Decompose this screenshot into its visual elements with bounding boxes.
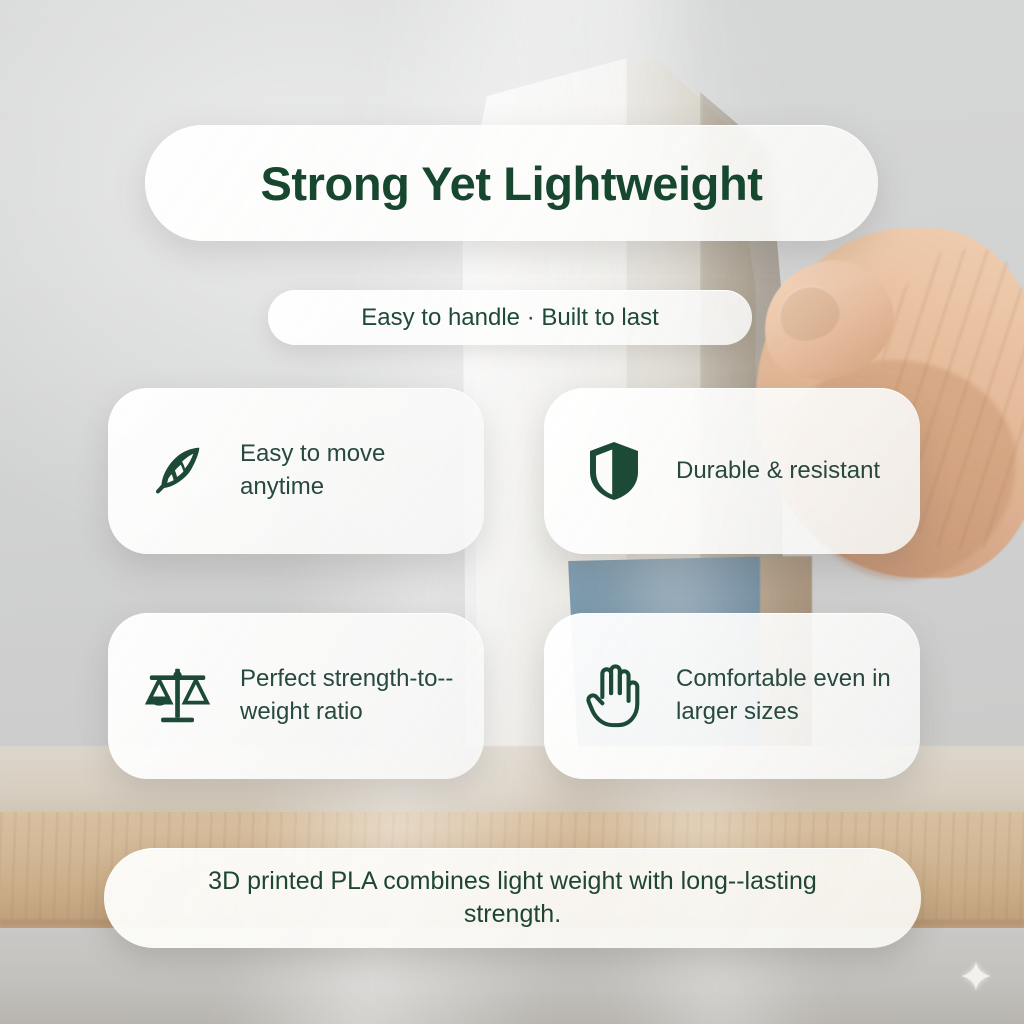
subtitle-pill: Easy to handle · Built to last	[268, 290, 752, 345]
sparkle-icon	[961, 961, 991, 991]
title-pill: Strong Yet Lightweight	[145, 125, 878, 241]
feature-label: Comfortable even in larger sizes	[676, 663, 896, 728]
feature-card-durable[interactable]: Durable & resistant	[544, 388, 920, 554]
feature-label: Easy to move anytime	[240, 438, 460, 503]
footer-pill: 3D printed PLA combines light weight wit…	[104, 848, 921, 948]
promo-graphic: Strong Yet Lightweight Easy to handle · …	[0, 0, 1024, 1024]
feature-card-strength-to-weight[interactable]: Perfect strength-to--weight ratio	[108, 613, 484, 779]
feature-card-comfortable[interactable]: Comfortable even in larger sizes	[544, 613, 920, 779]
feather-icon	[142, 435, 214, 507]
shield-icon	[578, 435, 650, 507]
footer-caption: 3D printed PLA combines light weight wit…	[193, 865, 833, 932]
feature-label: Perfect strength-to--weight ratio	[240, 663, 460, 728]
open-hand-icon	[578, 660, 650, 732]
page-subtitle: Easy to handle · Built to last	[361, 304, 659, 332]
feature-label: Durable & resistant	[676, 455, 880, 488]
page-title: Strong Yet Lightweight	[260, 156, 762, 211]
feature-card-grid: Easy to move anytime Durable & resistant	[108, 388, 920, 779]
balance-scale-icon	[142, 660, 214, 732]
feature-card-easy-to-move[interactable]: Easy to move anytime	[108, 388, 484, 554]
